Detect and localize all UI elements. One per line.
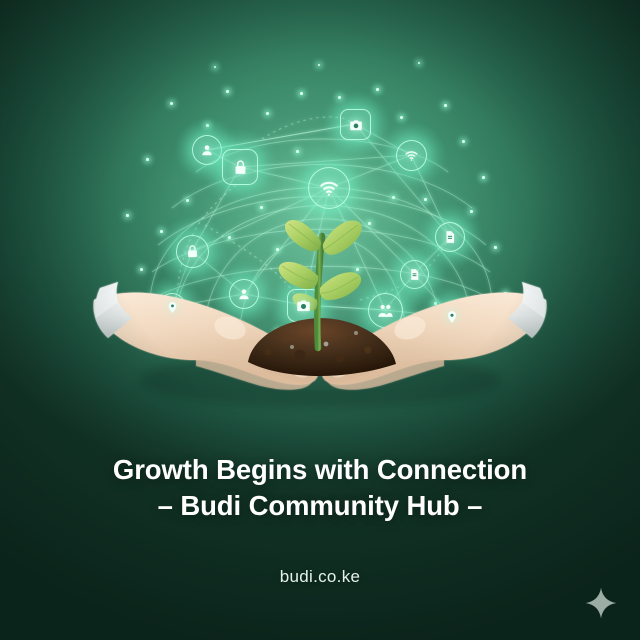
website-url[interactable]: budi.co.ke (0, 567, 640, 587)
headline-line-2: – Budi Community Hub – (40, 488, 600, 524)
caption-block: Growth Begins with Connection – Budi Com… (0, 452, 640, 524)
page-title: Growth Begins with Connection – Budi Com… (40, 452, 600, 524)
hands-holding-sprout (0, 0, 640, 640)
headline-line-1: Growth Begins with Connection (113, 454, 527, 485)
poster-canvas: Growth Begins with Connection – Budi Com… (0, 0, 640, 640)
four-point-star-icon (584, 586, 618, 620)
soil-mound (248, 318, 396, 376)
